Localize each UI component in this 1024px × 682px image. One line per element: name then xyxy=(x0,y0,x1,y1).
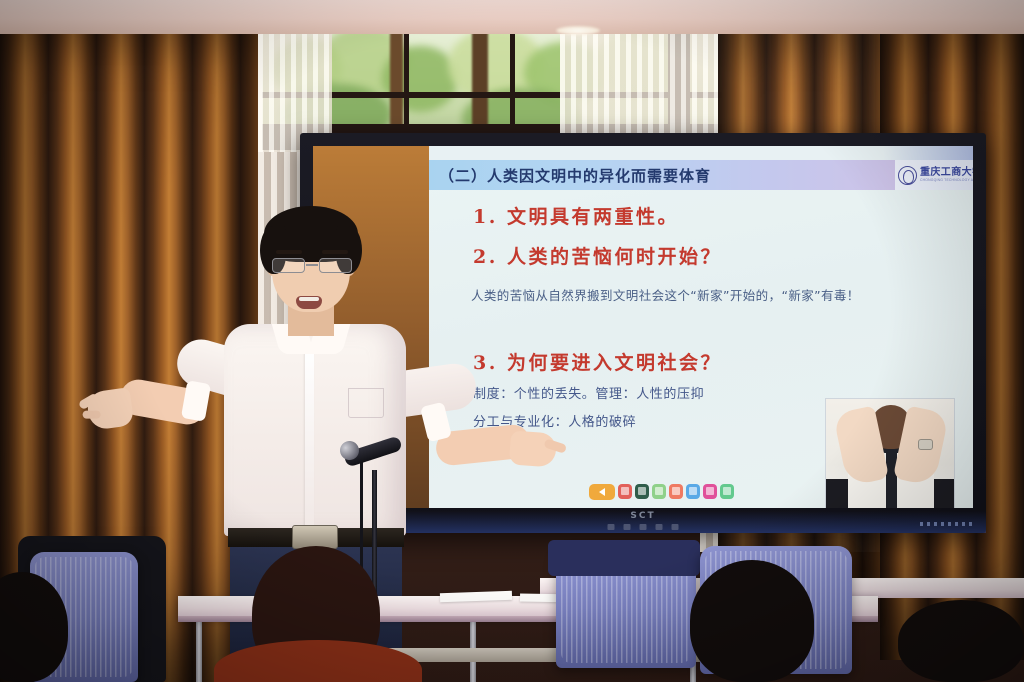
dock-app-red[interactable] xyxy=(618,484,632,499)
control-source-icon[interactable] xyxy=(624,524,631,530)
slide-title-bar: （二）人类因文明中的异化而需要体育 xyxy=(429,160,895,190)
slide-app-dock[interactable] xyxy=(589,483,734,500)
audience-head-far-right xyxy=(898,600,1024,682)
control-menu-icon[interactable] xyxy=(640,524,647,530)
dock-app-salmon[interactable] xyxy=(669,484,683,499)
slide-title: （二）人类因文明中的异化而需要体育 xyxy=(429,165,711,186)
university-subtitle: CHONGQING TECHNOLOGY AND BUSINESS UNIVER… xyxy=(920,178,973,182)
dock-app-darkgreen[interactable] xyxy=(635,484,649,499)
table-leg-left xyxy=(196,616,202,682)
control-volume-icon[interactable] xyxy=(656,524,663,530)
control-power-icon[interactable] xyxy=(608,524,615,530)
wristwatch-icon xyxy=(918,439,933,450)
slide-photo-stressed-man xyxy=(825,398,955,508)
display-status-leds xyxy=(920,522,972,526)
ceiling xyxy=(0,0,1024,34)
audience-head-right xyxy=(690,560,814,682)
university-name: 重庆工商大学 xyxy=(920,168,973,178)
eyeglasses-icon xyxy=(270,258,354,273)
university-seal-icon xyxy=(898,166,917,185)
back-arrow-icon[interactable] xyxy=(589,484,615,500)
dock-app-blue[interactable] xyxy=(686,484,700,499)
control-home-icon[interactable] xyxy=(672,524,679,530)
chair-frame-center xyxy=(548,540,700,576)
dock-app-lightgreen[interactable] xyxy=(652,484,666,499)
display-brand: SCT xyxy=(630,511,655,521)
presenter-left-hand xyxy=(86,387,135,431)
dock-app-green[interactable] xyxy=(720,484,734,499)
university-logo: 重庆工商大学 CHONGQING TECHNOLOGY AND BUSINESS… xyxy=(895,160,973,190)
dock-app-magenta[interactable] xyxy=(703,484,717,499)
ceiling-light xyxy=(556,26,600,35)
presenter-right-hand xyxy=(509,430,557,467)
display-controls[interactable] xyxy=(608,524,679,530)
lecture-scene: （二）人类因文明中的异化而需要体育 重庆工商大学 CHONGQING TECHN… xyxy=(0,0,1024,682)
